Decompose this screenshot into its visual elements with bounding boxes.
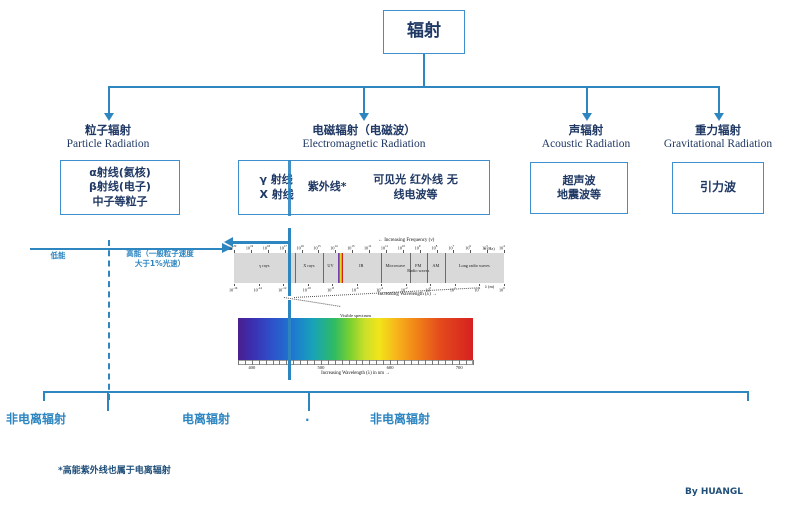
em-band-separator xyxy=(427,253,428,283)
visible-spectrum-bar xyxy=(238,318,473,360)
connector-drop-em xyxy=(363,86,365,114)
em-frequency-exponent: 108 xyxy=(432,244,438,250)
em-wavelength-exponent: 10-14 xyxy=(254,286,262,292)
visible-spectrum-tick xyxy=(335,360,336,365)
visible-spectrum-tick xyxy=(425,360,426,365)
node-particle-types[interactable]: α射线(氦核) β射线(电子) 中子等粒子 xyxy=(60,160,180,215)
classification-marker: . xyxy=(305,410,310,424)
node-acoustic-types[interactable]: 超声波 地震波等 xyxy=(530,162,628,214)
visible-spectrum-tick xyxy=(404,360,405,365)
classification-label-2: 非电离辐射 xyxy=(370,410,430,427)
visible-spectrum-tick-label: 600 xyxy=(387,365,394,370)
em-frequency-exponent: 105 xyxy=(482,244,488,250)
visible-spectrum-tick xyxy=(307,360,308,365)
visible-spectrum-tick xyxy=(349,360,350,365)
heading-em-en: Electromagnetic Radiation xyxy=(253,137,475,151)
visible-spectrum-tick xyxy=(418,360,419,365)
em-spectrum-band xyxy=(234,253,504,283)
visible-spectrum-tick xyxy=(473,360,474,365)
visible-spectrum-tick xyxy=(314,360,315,365)
em-frequency-exponent: 1013 xyxy=(347,244,354,250)
visible-spectrum-tick xyxy=(286,360,287,365)
em-spectrum-figure: ← Increasing Frequency (ν) ν (Hz) λ (m) … xyxy=(228,238,510,300)
connector-drop-gravitational xyxy=(718,86,720,114)
em-frequency-exponent: 1015 xyxy=(313,244,320,250)
node-gravitational-types[interactable]: 引力波 xyxy=(672,162,764,214)
connector-bus xyxy=(108,86,718,88)
diagram-canvas: 辐射 粒子辐射 Particle Radiation α射线(氦核) β射线(电… xyxy=(0,0,792,508)
classification-label-1: 电离辐射 xyxy=(182,410,230,427)
em-frequency-exponent: 1017 xyxy=(280,244,287,250)
visible-spectrum-tick xyxy=(279,360,280,365)
arrow-acoustic xyxy=(582,113,592,121)
node-acoustic-types-label: 超声波 地震波等 xyxy=(553,172,605,204)
em-wavelength-exponent: 10-6 xyxy=(352,286,359,292)
em-wavelength-exponent: 10-16 xyxy=(229,286,237,292)
connector-drop-particle xyxy=(108,86,110,114)
visible-spectrum-tick xyxy=(238,360,239,365)
em-frequency-exponent: 104 xyxy=(499,244,505,250)
footnote: *高能紫外线也属于电离辐射 xyxy=(58,463,171,476)
visible-spectrum-tick-label: 700 xyxy=(456,365,463,370)
em-band-label: AM xyxy=(414,263,458,268)
visible-spectrum-caption: Increasing Wavelength (λ) in nm → xyxy=(238,371,473,376)
visible-spectrum-tick xyxy=(411,360,412,365)
classification-divider-1 xyxy=(107,391,109,411)
visible-spectrum-tick xyxy=(273,360,274,365)
heading-gravitational-cn: 重力辐射 xyxy=(643,123,792,137)
visible-spectrum-tick xyxy=(245,360,246,365)
visible-spectrum-tick xyxy=(266,360,267,365)
heading-gravitational-radiation: 重力辐射 Gravitational Radiation xyxy=(643,123,792,151)
visible-spectrum-tick xyxy=(356,360,357,365)
node-em-gamma-x: γ 射线 X 射线 xyxy=(253,171,297,203)
connector-drop-acoustic xyxy=(586,86,588,114)
heading-em-radiation: 电磁辐射（电磁波） Electromagnetic Radiation xyxy=(253,123,475,151)
energy-label-high: 高能（一般粒子速度 大于1%光速） xyxy=(100,249,220,269)
heading-acoustic-en: Acoustic Radiation xyxy=(512,137,660,151)
heading-particle-radiation: 粒子辐射 Particle Radiation xyxy=(38,123,178,151)
visible-spectrum-tick xyxy=(452,360,453,365)
node-gravitational-types-label: 引力波 xyxy=(696,178,740,197)
classification-axis-line xyxy=(43,391,749,393)
arrow-em xyxy=(359,113,369,121)
visible-spectrum-tick xyxy=(397,360,398,365)
em-frequency-exponent: 107 xyxy=(448,244,454,250)
em-frequency-exponent: 1016 xyxy=(297,244,304,250)
em-frequency-exponent: 1014 xyxy=(330,244,337,250)
node-root[interactable]: 辐射 xyxy=(383,10,465,54)
visible-spectrum-tick xyxy=(438,360,439,365)
em-band-separator xyxy=(323,253,324,283)
guide-uv-highlight-upper xyxy=(288,160,291,216)
em-wavelength-exponent: 10-12 xyxy=(278,286,286,292)
em-band-label: Long radio waves xyxy=(452,263,496,268)
visible-spectrum-tick xyxy=(328,360,329,365)
visible-spectrum-tick-label: 500 xyxy=(317,365,324,370)
classification-axis-cap-left xyxy=(43,391,45,401)
em-frequency-exponent: 106 xyxy=(465,244,471,250)
em-frequency-exponent: 1018 xyxy=(263,244,270,250)
heading-gravitational-en: Gravitational Radiation xyxy=(643,137,792,151)
visible-spectrum-tick xyxy=(293,360,294,365)
visible-spectrum-tick xyxy=(300,360,301,365)
classification-axis-cap-right xyxy=(747,391,749,401)
visible-spectrum-tick xyxy=(432,360,433,365)
heading-particle-cn: 粒子辐射 xyxy=(38,123,178,137)
node-em-uv: 紫外线* xyxy=(298,180,357,194)
em-wavelength-exponent: 10-10 xyxy=(303,286,311,292)
em-frequency-note: ← Increasing Frequency (ν) xyxy=(378,238,434,243)
em-frequency-exponent: 1011 xyxy=(381,244,388,250)
em-frequency-exponent: 1012 xyxy=(364,244,371,250)
visible-spectrum-tick-label: 400 xyxy=(248,365,255,370)
classification-label-0: 非电离辐射 xyxy=(6,410,66,427)
classification-divider-2 xyxy=(308,391,310,411)
visible-spectrum-tick xyxy=(445,360,446,365)
arrow-particle xyxy=(104,113,114,121)
visible-spectrum-tick xyxy=(383,360,384,365)
credit-label: By HUANGL xyxy=(685,487,743,497)
node-particle-types-label: α射线(氦核) β射线(电子) 中子等粒子 xyxy=(85,164,155,210)
em-band-separator xyxy=(445,253,446,283)
node-em-visible-ir-radio: 可见光 红外线 无 线电波等 xyxy=(357,171,475,203)
em-wavelength-unit: λ (m) xyxy=(485,284,494,289)
visible-spectrum-tick xyxy=(466,360,467,365)
energy-label-low: 低能 xyxy=(28,251,88,261)
visible-spectrum-figure: Visible spectrum Increasing Wavelength (… xyxy=(238,305,510,377)
guide-uv-highlight-visible xyxy=(288,300,291,380)
em-visible-sliver xyxy=(342,253,343,283)
visible-spectrum-tick xyxy=(376,360,377,365)
arrow-gravitational xyxy=(714,113,724,121)
visible-spectrum-tick xyxy=(369,360,370,365)
guide-uv-highlight-spectrum xyxy=(288,228,291,296)
node-em-types[interactable]: γ 射线 X 射线 紫外线* 可见光 红外线 无 线电波等 xyxy=(238,160,490,215)
em-band-separator xyxy=(295,253,296,283)
em-frequency-exponent: 1020 xyxy=(229,244,236,250)
heading-particle-en: Particle Radiation xyxy=(38,137,178,151)
em-band-separator xyxy=(381,253,382,283)
visible-spectrum-tick xyxy=(362,360,363,365)
em-band-label: γ rays xyxy=(242,263,286,268)
heading-acoustic-radiation: 声辐射 Acoustic Radiation xyxy=(512,123,660,151)
connector-root-stem xyxy=(423,54,425,86)
em-wavelength-exponent: 10-8 xyxy=(327,286,334,292)
em-frequency-exponent: 109 xyxy=(415,244,421,250)
em-frequency-exponent: 1019 xyxy=(246,244,253,250)
heading-em-cn: 电磁辐射（电磁波） xyxy=(253,123,475,137)
visible-spectrum-tick xyxy=(259,360,260,365)
visible-spectrum-tick xyxy=(342,360,343,365)
node-root-label: 辐射 xyxy=(403,19,445,45)
heading-acoustic-cn: 声辐射 xyxy=(512,123,660,137)
guide-dashed-particle xyxy=(108,240,110,400)
em-wavelength-exponent: 106 xyxy=(499,286,505,292)
em-frequency-exponent: 1010 xyxy=(398,244,405,250)
